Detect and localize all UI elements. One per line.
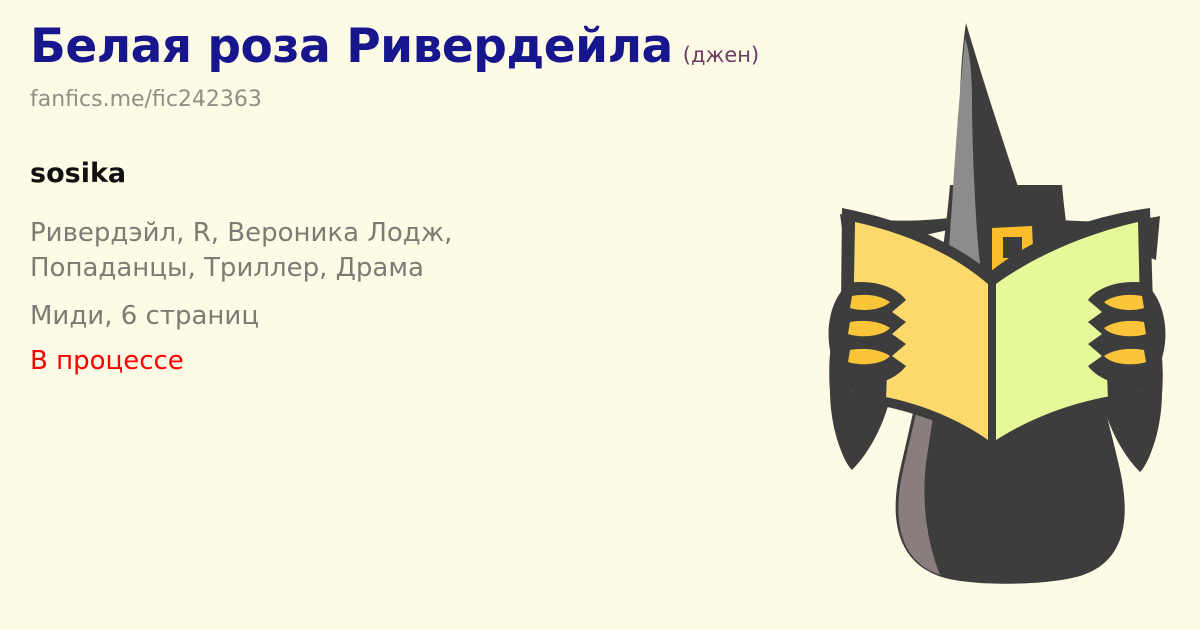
witch-reading-illustration: [800, 0, 1200, 630]
witch-sleeve-tails: [830, 390, 1162, 472]
metadata-block: Ривердэйл, R, Вероника Лодж, Попаданцы, …: [30, 216, 820, 378]
size-and-pages: Миди, 6 страниц: [30, 299, 710, 334]
source-url: fanfics.me/fic242363: [30, 87, 820, 113]
witch-hat-brim: [840, 214, 1160, 260]
witch-robe-group: [896, 185, 1125, 584]
left-finger-1: [850, 295, 890, 310]
right-hand-palm: [1104, 288, 1165, 401]
right-sleeve-tail: [1102, 392, 1162, 472]
witch-right-sleeve: [1092, 282, 1163, 472]
witch-hat-buckle-hole: [1003, 237, 1022, 258]
fanfic-preview-card: Белая роза Ривердейла(джен) fanfics.me/f…: [0, 0, 1200, 630]
left-sleeve-tail: [830, 390, 890, 470]
book-left-page: [852, 222, 988, 440]
author-name: sosika: [30, 158, 820, 190]
witch-left-hand: [829, 282, 906, 401]
text-column: Белая роза Ривердейла(джен) fanfics.me/f…: [30, 22, 820, 378]
fandom-tags-line-1: Ривердэйл, R, Вероника Лодж,: [30, 216, 710, 251]
genre-tag: (джен): [683, 43, 759, 67]
witch-hat-group: [840, 23, 1160, 270]
right-finger-1: [1104, 295, 1144, 310]
left-finger-2: [848, 321, 890, 336]
witch-right-hand: [1088, 282, 1165, 401]
status-badge: В процессе: [30, 344, 820, 379]
right-hand-knuckles: [1088, 282, 1154, 386]
book-spine: [988, 282, 996, 442]
fandom-tags-line-2: Попаданцы, Триллер, Драма: [30, 251, 710, 286]
witch-hat-cone: [948, 23, 1040, 264]
witch-robe-body: [896, 185, 1125, 584]
right-finger-3: [1104, 349, 1146, 364]
witch-reading-svg: [800, 0, 1200, 630]
witch-sleeves-group: [829, 280, 1163, 472]
book-outline: [840, 208, 1156, 452]
left-hand-palm: [829, 288, 890, 401]
right-finger-2: [1104, 321, 1146, 336]
book-right-page: [996, 222, 1142, 440]
left-hand-knuckles: [840, 282, 906, 386]
left-finger-3: [848, 349, 890, 364]
witch-left-sleeve: [829, 280, 900, 470]
witch-robe-shadow: [898, 240, 960, 575]
page-title: Белая роза Ривердейла: [30, 19, 673, 74]
open-book-group: [840, 208, 1156, 452]
title-row: Белая роза Ривердейла(джен): [30, 22, 820, 71]
witch-hat-highlight: [948, 38, 980, 264]
witch-hat-buckle: [992, 226, 1034, 270]
